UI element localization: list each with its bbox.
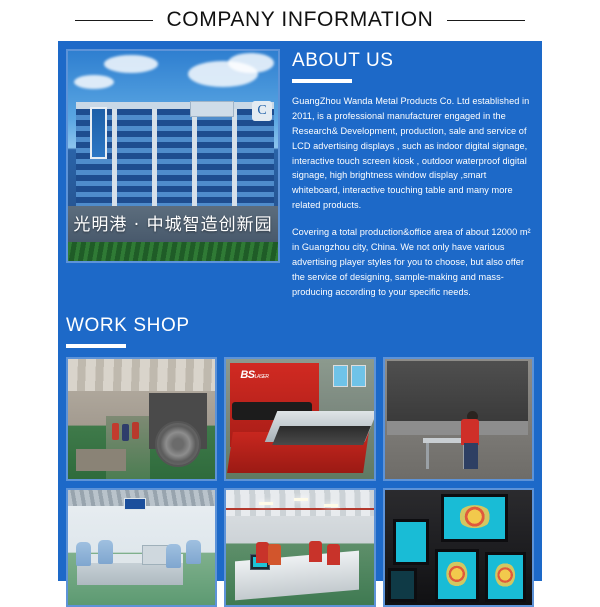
machine-brand-logo: BSLASER xyxy=(240,369,268,381)
digital-display-screen xyxy=(435,549,479,602)
about-paragraph-2: Covering a total production&office area … xyxy=(292,225,534,300)
building-column xyxy=(112,109,117,209)
page-title: COMPANY INFORMATION xyxy=(167,8,434,32)
about-section: C 光明港 · 中城智造创新园 ABOUT US GuangZhou Wanda… xyxy=(66,49,534,300)
workshop-heading-underline xyxy=(66,344,126,348)
workshop-photo-factory-machining-floor[interactable]: Factory machining floor with CNC machine… xyxy=(66,357,217,481)
cleanroom-worker xyxy=(98,540,113,564)
cloud-shape xyxy=(228,53,274,73)
workshop-photo-finished-displays[interactable]: Finished digital signage displays powere… xyxy=(383,488,534,607)
screen-emblem-graphic xyxy=(496,563,516,588)
worker-figure xyxy=(122,424,129,441)
pallet-stock xyxy=(76,449,126,471)
cleanroom-sign xyxy=(124,498,146,510)
press-brake-machine xyxy=(387,361,528,423)
about-column: ABOUT US GuangZhou Wanda Metal Products … xyxy=(292,49,534,300)
building-column xyxy=(232,109,237,209)
photo-caption: Worker in red shirt operating press brak… xyxy=(385,359,386,360)
ceiling-lamp xyxy=(259,502,273,505)
cleanroom-worker xyxy=(166,544,181,568)
building-column xyxy=(152,109,157,209)
company-info-panel: C 光明港 · 中城智造创新园 ABOUT US GuangZhou Wanda… xyxy=(58,41,542,581)
header-rule-right xyxy=(447,20,525,21)
building-column xyxy=(192,109,197,209)
ceiling-pipe xyxy=(226,508,373,510)
cutting-bed xyxy=(273,426,372,445)
photo-caption: Red BS Laser cutting machine xyxy=(226,359,227,360)
work-bench-leg xyxy=(426,443,429,469)
wall-signage-text: 光明港 · 中城智造创新园 xyxy=(68,210,278,235)
header-rule-left xyxy=(75,20,153,21)
assembly-worker xyxy=(256,542,269,563)
worker-legs xyxy=(464,443,478,469)
cleanroom-worker xyxy=(76,542,91,566)
digital-display-screen xyxy=(441,494,509,542)
factory-window xyxy=(351,365,366,387)
ceiling-lamp xyxy=(324,504,338,507)
digital-display-screen xyxy=(485,552,526,603)
workshop-photo-grid: Factory machining floor with CNC machine… xyxy=(66,357,534,607)
cloud-shape xyxy=(104,55,158,73)
worker-figure xyxy=(112,423,119,440)
about-heading-underline xyxy=(292,79,352,83)
digital-display-screen xyxy=(388,568,417,603)
factory-window xyxy=(333,365,348,387)
building-photo: C 光明港 · 中城智造创新园 xyxy=(66,49,280,263)
assembly-worker xyxy=(327,544,340,565)
workshop-heading: WORK SHOP xyxy=(66,316,534,337)
worker-figure xyxy=(132,422,139,439)
workshop-photo-cleanroom-assembly[interactable]: Dust-free cleanroom assembly with worker… xyxy=(66,488,217,607)
about-heading: ABOUT US xyxy=(292,51,534,72)
assembly-worker xyxy=(309,541,322,562)
workshop-photo-assembly-line[interactable]: Display assembly line with workers in re… xyxy=(224,488,375,607)
cleanroom-worker xyxy=(186,540,201,564)
photo-caption: Finished digital signage displays powere… xyxy=(385,490,386,491)
press-brake-bed xyxy=(387,421,528,435)
assembly-worker xyxy=(268,544,281,565)
workshop-section: WORK SHOP Factory machining floor with C… xyxy=(66,316,534,607)
page-header: COMPANY INFORMATION xyxy=(0,0,600,38)
about-paragraph-1: GuangZhou Wanda Metal Products Co. Ltd e… xyxy=(292,94,534,213)
building-logo-board xyxy=(190,101,234,117)
ceiling-structure xyxy=(226,490,373,516)
hedge-greenery xyxy=(68,242,278,261)
industrial-fan xyxy=(155,421,201,467)
ceiling-lamp xyxy=(294,498,308,501)
screen-emblem-graphic xyxy=(446,561,467,587)
workshop-photo-press-brake-operator[interactable]: Worker in red shirt operating press brak… xyxy=(383,357,534,481)
building-vertical-sign-face xyxy=(92,109,105,157)
screen-emblem-graphic xyxy=(457,505,492,529)
workshop-photo-laser-cutting-machine[interactable]: BSLASER Red BS Laser cutting machine xyxy=(224,357,375,481)
cloud-shape xyxy=(74,75,114,89)
digital-display-screen xyxy=(393,519,428,565)
ceiling-structure xyxy=(68,359,215,391)
building-letter-badge: C xyxy=(252,101,272,121)
worker-red-shirt xyxy=(461,419,479,445)
